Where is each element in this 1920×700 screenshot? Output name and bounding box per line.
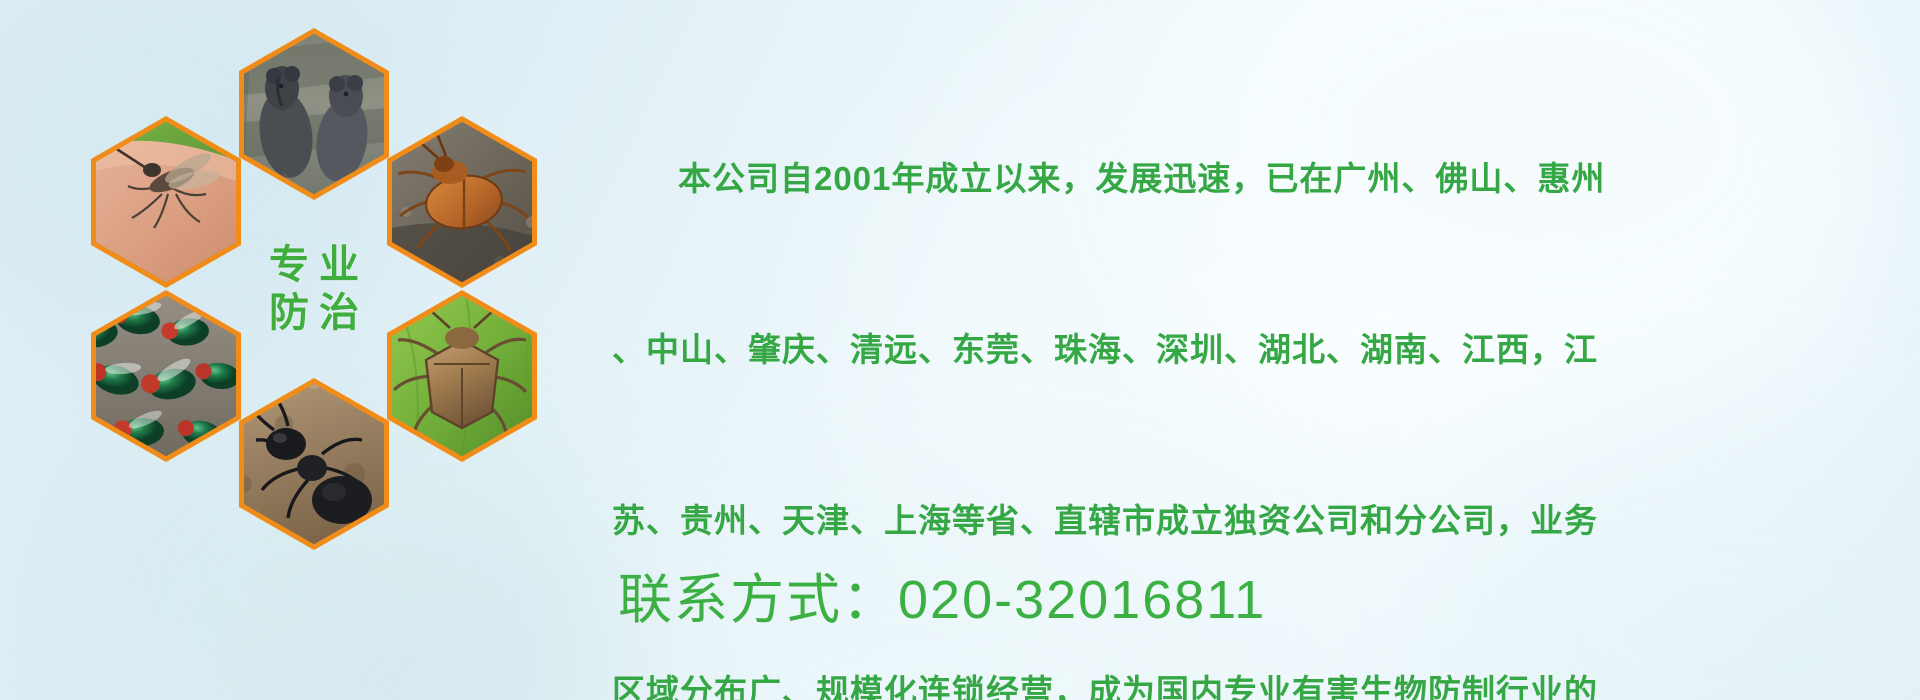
hex-tile-stinkbug-photo[interactable]: [387, 290, 537, 462]
fly-photo-icon: [96, 296, 236, 457]
description-line-1: 本公司自2001年成立以来，发展迅速，已在广州、佛山、惠州: [612, 150, 1912, 207]
hex-tile-fly-photo[interactable]: [91, 290, 241, 462]
hexagon-photo-collage: 专业 防治: [86, 8, 586, 568]
description-line-2: 、中山、肇庆、清远、东莞、珠海、深圳、湖北、湖南、江西，江: [612, 321, 1912, 378]
hex-inner-stinkbug: [392, 296, 532, 457]
hex-tile-ant-photo[interactable]: [239, 378, 389, 550]
mosquito-photo-icon: [96, 122, 236, 283]
hex-inner-fly: [96, 296, 236, 457]
stinkbug-photo-icon: [392, 296, 532, 457]
promo-banner: 专业 防治 本公司自2001年成立以来，发展迅速，已在广州、佛山、惠州 、中山、…: [0, 0, 1920, 700]
hex-inner-ant: [244, 384, 384, 545]
ant-photo-icon: [244, 384, 384, 545]
hex-tile-rat-photo[interactable]: [239, 28, 389, 200]
slogan-line-1: 专业: [259, 244, 369, 286]
hex-inner-rat: [244, 34, 384, 195]
contact-info: 联系方式：020-32016811 159-1588-1110: [618, 400, 1918, 700]
hex-inner-cockroach: [392, 122, 532, 283]
center-slogan: 专业 防治: [239, 203, 389, 375]
rat-photo-icon: [244, 34, 384, 195]
hex-tile-mosquito-photo[interactable]: [91, 116, 241, 288]
hex-inner-mosquito: [96, 122, 236, 283]
cockroach-photo-icon: [392, 122, 532, 283]
contact-phone-primary[interactable]: 联系方式：020-32016811: [618, 560, 1918, 640]
hex-tile-cockroach-photo[interactable]: [387, 116, 537, 288]
slogan-line-2: 防治: [259, 292, 369, 334]
